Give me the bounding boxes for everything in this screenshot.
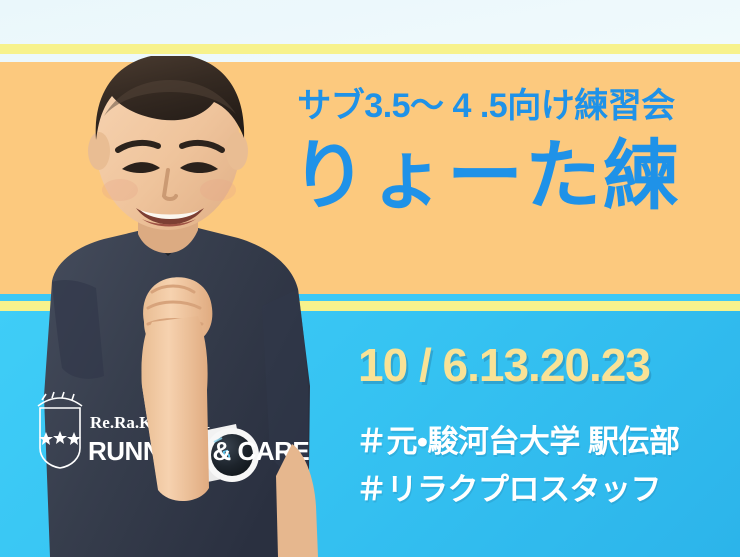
hashtag-university: ＃元•駿河台大学 駅伝部	[356, 416, 679, 461]
event-date: 10 / 6.13.20.23	[358, 338, 650, 392]
poster-canvas: 5 Re.Ra.Ku —PRO— RUNNING & CARE	[0, 0, 740, 557]
headline-subtitle: サブ3.5〜 4 .5向け練習会	[236, 88, 736, 125]
headline-block: サブ3.5〜 4 .5向け練習会 りょーた練	[236, 88, 736, 217]
top-yellow-stripe	[0, 44, 740, 54]
headline-title: りょーた練	[236, 137, 736, 217]
hashtag-staff: ＃リラクプロスタッフ	[356, 464, 661, 509]
